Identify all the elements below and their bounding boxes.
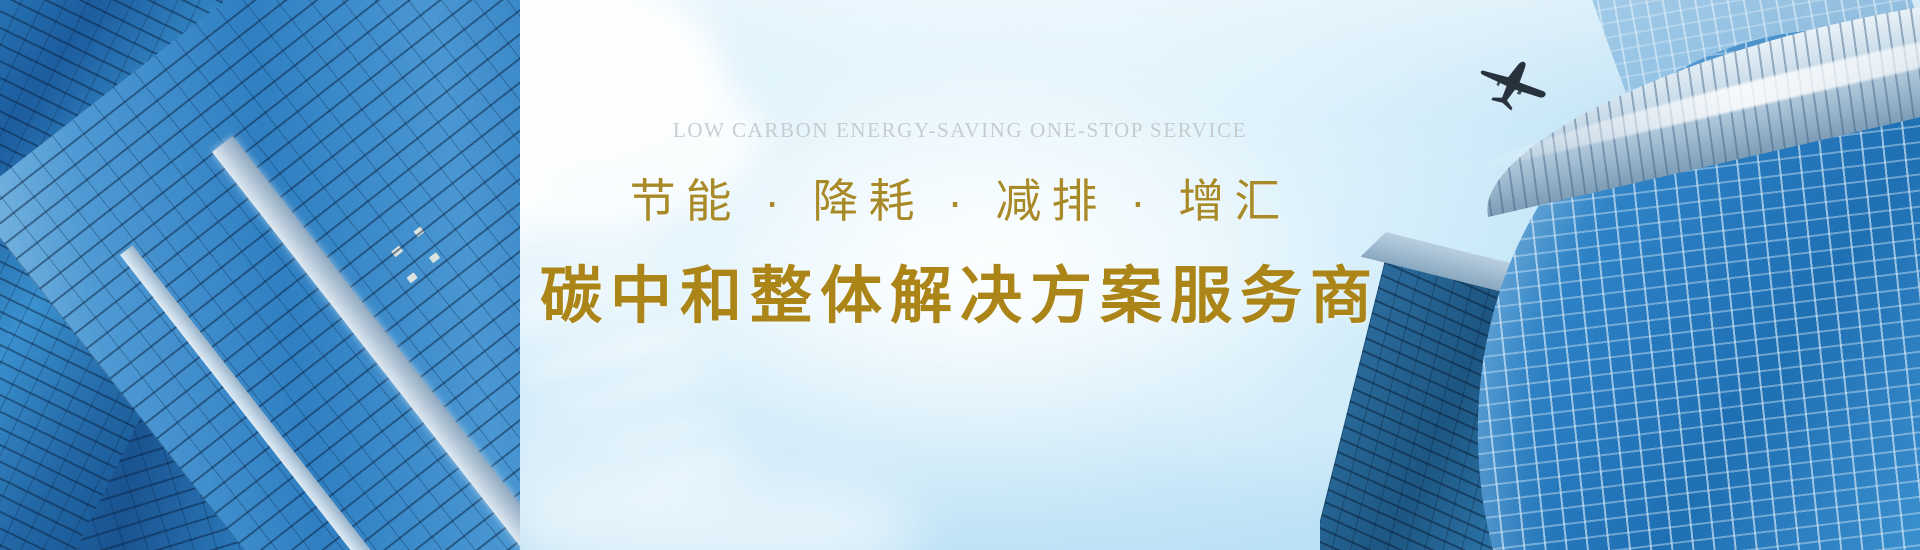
hero-eyebrow: LOW CARBON ENERGY-SAVING ONE-STOP SERVIC… bbox=[0, 118, 1920, 143]
hero-copy: LOW CARBON ENERGY-SAVING ONE-STOP SERVIC… bbox=[0, 118, 1920, 335]
cloud-wisp bbox=[640, 453, 750, 482]
cloud bbox=[490, 470, 920, 550]
cloud-wisp bbox=[600, 412, 729, 450]
hero-headline: 碳中和整体解决方案服务商 bbox=[0, 245, 1920, 335]
airplane-icon bbox=[1478, 55, 1548, 111]
hero-banner: LOW CARBON ENERGY-SAVING ONE-STOP SERVIC… bbox=[0, 0, 1920, 550]
hero-subhead: 节能 · 降耗 · 减排 · 增汇 bbox=[0, 165, 1920, 231]
cloud-wisp bbox=[561, 367, 709, 415]
